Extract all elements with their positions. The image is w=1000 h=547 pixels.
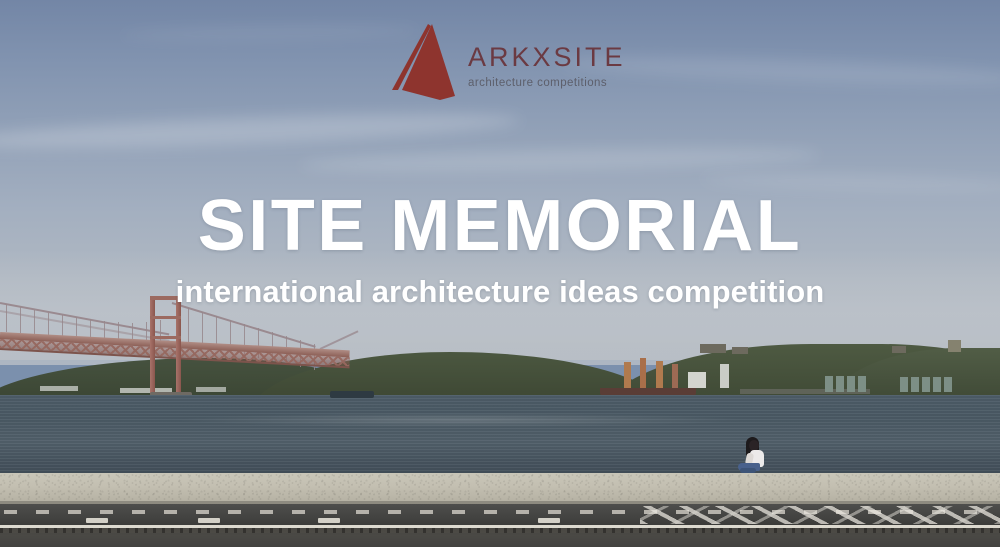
water-ripples bbox=[0, 395, 1000, 480]
port-silo bbox=[922, 377, 930, 392]
bridge-back-stay bbox=[320, 330, 359, 350]
road-marking bbox=[198, 518, 220, 523]
bridge-tower-crossbeam bbox=[150, 316, 181, 319]
cloud-streak bbox=[0, 107, 520, 154]
cloud-streak bbox=[120, 23, 420, 42]
seated-person bbox=[738, 437, 772, 475]
port-crane bbox=[640, 358, 646, 388]
river-water bbox=[0, 395, 1000, 480]
water-glint bbox=[180, 413, 740, 427]
road-marking bbox=[318, 518, 340, 523]
promenade-wall bbox=[0, 473, 1000, 503]
port-silo bbox=[900, 377, 908, 392]
port-crane bbox=[672, 364, 678, 388]
bridge-tower-crossbeam bbox=[150, 336, 181, 339]
port-silo bbox=[847, 376, 855, 392]
port-silo bbox=[825, 376, 833, 392]
road-gravel-edge bbox=[0, 528, 1000, 533]
bridge-tower-leg bbox=[176, 296, 181, 401]
port-crane bbox=[624, 362, 631, 388]
port-silo bbox=[836, 376, 844, 392]
road-cobble-pattern bbox=[640, 506, 1000, 524]
ridge-tower bbox=[948, 340, 961, 352]
cloud-streak bbox=[300, 145, 820, 176]
competition-poster: ARKXSITE architecture competitions SITE … bbox=[0, 0, 1000, 547]
port-crane bbox=[656, 361, 663, 388]
port-silo bbox=[933, 377, 941, 392]
competition-subtitle: international architecture ideas competi… bbox=[0, 276, 1000, 307]
port-silo bbox=[944, 377, 952, 392]
bridge-main-cable bbox=[0, 302, 169, 335]
bridge-hanger bbox=[6, 304, 7, 332]
road-marking bbox=[538, 518, 560, 523]
industrial-port bbox=[600, 352, 1000, 400]
port-silo bbox=[911, 377, 919, 392]
port-silo bbox=[858, 376, 866, 392]
road-marking bbox=[86, 518, 108, 523]
port-silo bbox=[720, 364, 729, 388]
bridge-hanger bbox=[62, 315, 63, 336]
bridge-hanger bbox=[48, 313, 49, 335]
bridge-hanger bbox=[188, 308, 189, 346]
port-building bbox=[688, 372, 706, 388]
bridge-hanger bbox=[104, 321, 105, 339]
boat bbox=[330, 391, 374, 398]
arkxsite-logo[interactable]: ARKXSITE architecture competitions bbox=[392, 24, 624, 100]
bridge-hanger bbox=[76, 317, 77, 337]
arkxsite-a-mark bbox=[392, 24, 460, 100]
headline-block: SITE MEMORIAL international architecture… bbox=[0, 190, 1000, 307]
bridge-hanger bbox=[34, 310, 35, 334]
arkxsite-wordmark: ARKXSITE bbox=[468, 44, 628, 71]
arkxsite-logo-text: ARKXSITE architecture competitions bbox=[468, 44, 628, 90]
bridge-tower-leg bbox=[150, 296, 155, 401]
bridge-hanger bbox=[20, 307, 21, 333]
arkxsite-tagline: architecture competitions bbox=[468, 78, 628, 90]
bridge-hanger bbox=[90, 319, 91, 338]
competition-title: SITE MEMORIAL bbox=[0, 190, 1000, 262]
